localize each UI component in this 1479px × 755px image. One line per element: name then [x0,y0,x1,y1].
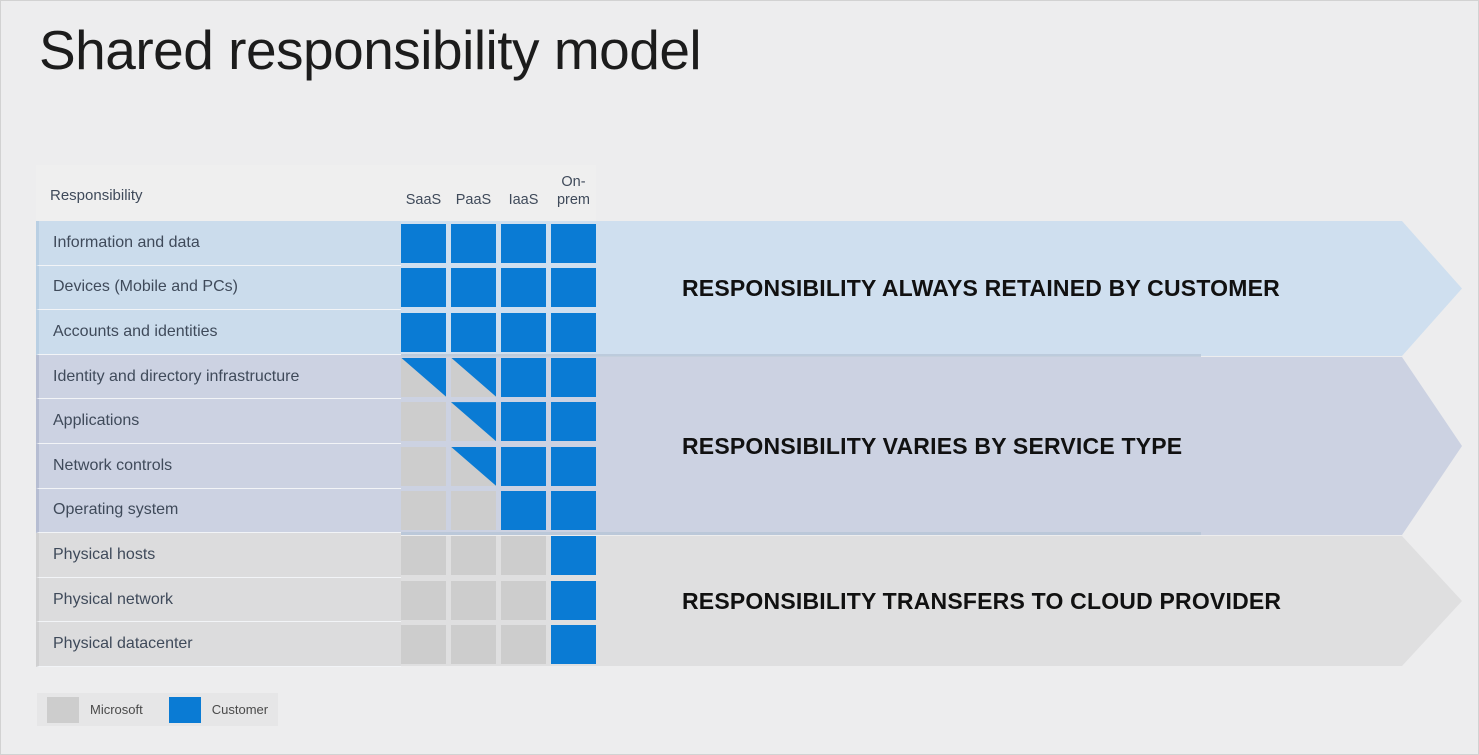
table-row: Information and data [36,221,596,266]
row-cells [401,489,596,534]
table-row: Physical hosts [36,533,596,578]
column-header-group: SaaS PaaS IaaS On-prem [401,173,596,221]
page-title: Shared responsibility model [39,18,701,82]
matrix-cell-saas-split [401,358,446,397]
table-row: Physical network [36,578,596,623]
table-row: Devices (Mobile and PCs) [36,266,596,311]
matrix-cell-onprem-cust [551,224,596,263]
band-label-provider: RESPONSIBILITY TRANSFERS TO CLOUD PROVID… [682,588,1281,615]
row-cells [401,622,596,667]
band-label-varies: RESPONSIBILITY VARIES BY SERVICE TYPE [682,433,1182,460]
matrix-cell-paas-split [451,358,496,397]
legend-label: Microsoft [90,702,143,717]
row-label: Operating system [36,489,401,534]
column-header-saas: SaaS [401,191,446,209]
matrix-cell-saas-cust [401,268,446,307]
legend-swatch-customer [169,697,201,723]
matrix-cell-onprem-cust [551,268,596,307]
matrix-cell-iaas-ms [501,625,546,664]
table-body: Information and dataDevices (Mobile and … [36,221,596,667]
table-row: Accounts and identities [36,310,596,355]
row-label: Devices (Mobile and PCs) [36,266,401,311]
matrix-cell-saas-ms [401,581,446,620]
row-label: Applications [36,399,401,444]
matrix-cell-paas-split [451,447,496,486]
matrix-cell-saas-ms [401,491,446,530]
matrix-cell-saas-cust [401,224,446,263]
matrix-cell-paas-ms [451,536,496,575]
matrix-cell-onprem-cust [551,536,596,575]
matrix-cell-paas-cust [451,313,496,352]
matrix-cell-onprem-cust [551,447,596,486]
row-cells [401,533,596,578]
matrix-cell-onprem-cust [551,491,596,530]
row-label: Identity and directory infrastructure [36,355,401,400]
row-cells [401,266,596,311]
matrix-cell-iaas-cust [501,402,546,441]
row-cells [401,578,596,623]
matrix-cell-iaas-cust [501,358,546,397]
legend-swatch-microsoft [47,697,79,723]
matrix-cell-saas-ms [401,402,446,441]
responsibility-matrix: Responsibility SaaS PaaS IaaS On-prem In… [36,165,596,667]
row-cells [401,355,596,400]
legend: MicrosoftCustomer [37,693,278,726]
matrix-cell-paas-ms [451,581,496,620]
matrix-cell-onprem-cust [551,313,596,352]
column-header-iaas: IaaS [501,191,546,209]
matrix-cell-onprem-cust [551,625,596,664]
legend-item-customer: Customer [169,697,268,723]
row-cells [401,399,596,444]
table-header-row: Responsibility SaaS PaaS IaaS On-prem [36,165,596,221]
matrix-cell-onprem-cust [551,581,596,620]
matrix-cell-iaas-cust [501,268,546,307]
matrix-cell-iaas-ms [501,536,546,575]
table-row: Applications [36,399,596,444]
matrix-cell-saas-ms [401,447,446,486]
row-cells [401,310,596,355]
row-label: Physical network [36,578,401,623]
legend-item-microsoft: Microsoft [47,697,143,723]
table-row: Network controls [36,444,596,489]
row-label: Information and data [36,221,401,266]
matrix-cell-saas-ms [401,536,446,575]
matrix-cell-paas-split [451,402,496,441]
matrix-cell-onprem-cust [551,358,596,397]
matrix-cell-onprem-cust [551,402,596,441]
matrix-cell-paas-cust [451,268,496,307]
matrix-cell-paas-ms [451,491,496,530]
row-label: Accounts and identities [36,310,401,355]
matrix-cell-iaas-cust [501,313,546,352]
row-cells [401,444,596,489]
row-cells [401,221,596,266]
table-row: Identity and directory infrastructure [36,355,596,400]
matrix-cell-iaas-cust [501,491,546,530]
matrix-cell-paas-cust [451,224,496,263]
table-row: Operating system [36,489,596,534]
matrix-cell-saas-ms [401,625,446,664]
column-header-responsibility: Responsibility [36,188,401,221]
matrix-cell-paas-ms [451,625,496,664]
band-label-customer: RESPONSIBILITY ALWAYS RETAINED BY CUSTOM… [682,275,1280,302]
matrix-cell-saas-cust [401,313,446,352]
matrix-cell-iaas-ms [501,581,546,620]
matrix-cell-iaas-cust [501,224,546,263]
row-label: Network controls [36,444,401,489]
row-label: Physical datacenter [36,622,401,667]
legend-label: Customer [212,702,268,717]
matrix-cell-iaas-cust [501,447,546,486]
column-header-onprem: On-prem [551,173,596,209]
table-row: Physical datacenter [36,622,596,667]
slide-canvas: Shared responsibility model RESPONSIBILI… [0,0,1479,755]
row-label: Physical hosts [36,533,401,578]
column-header-paas: PaaS [451,191,496,209]
